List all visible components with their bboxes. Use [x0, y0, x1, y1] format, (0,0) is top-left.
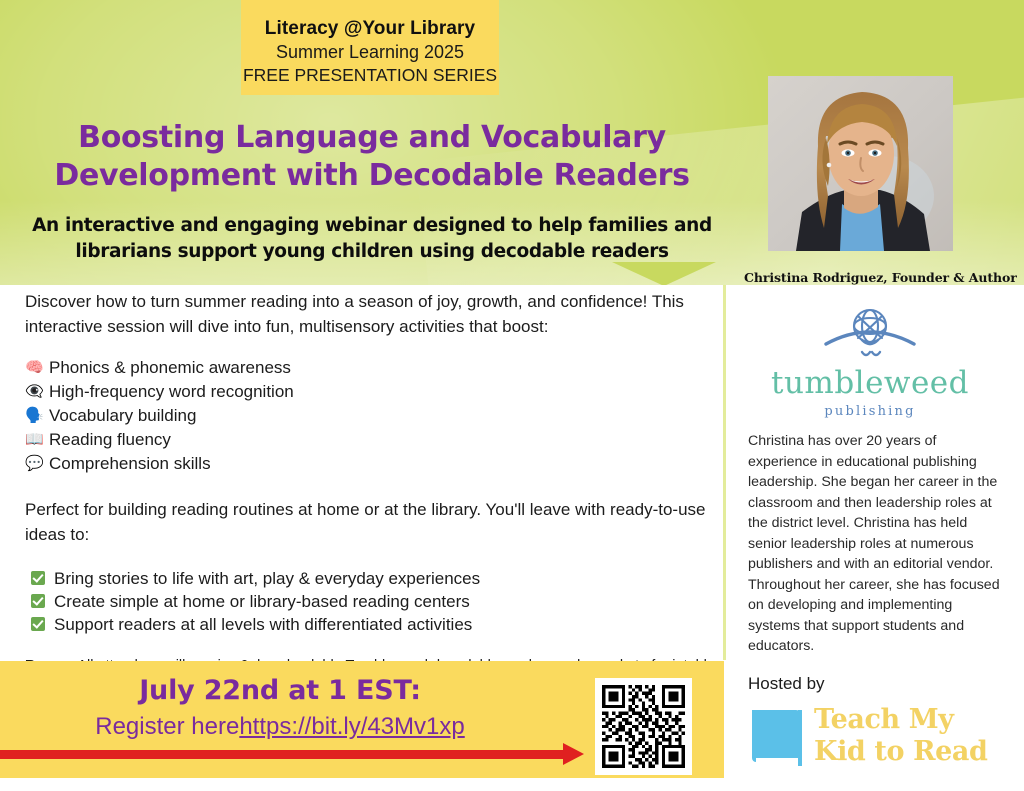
open-book-emoji: 📖: [25, 428, 49, 451]
host-wordmark: Teach My Kid to Read: [814, 704, 987, 768]
avatar: [768, 76, 953, 251]
series-title-box: Literacy @Your Library Summer Learning 2…: [241, 0, 499, 95]
list-item: 🧠 Phonics & phonemic awareness: [25, 356, 715, 379]
list-item: 💬 Comprehension skills: [25, 452, 715, 475]
list-item: 🗣️ Vocabulary building: [25, 404, 715, 427]
presenter-photo-icon: [768, 76, 953, 251]
body-content: Discover how to turn summer reading into…: [25, 289, 715, 698]
tumbleweed-mark-icon: [818, 306, 922, 362]
list-item-label: Phonics & phonemic awareness: [49, 356, 291, 379]
check-mark-icon: [31, 594, 45, 608]
column-divider: [723, 285, 726, 660]
list-item: 👁️‍🗨️ High-frequency word recognition: [25, 380, 715, 403]
page-title: Boosting Language and Vocabulary Develop…: [22, 119, 722, 195]
list-item: Bring stories to life with art, play & e…: [25, 567, 715, 590]
list-item: 📖 Reading fluency: [25, 428, 715, 451]
arrow-head-icon: [563, 743, 584, 765]
presenter-bio: Christina has over 20 years of experienc…: [748, 431, 1008, 657]
brain-emoji: 🧠: [25, 356, 49, 379]
check-mark-icon: [31, 617, 45, 631]
page-subtitle: An interactive and engaging webinar desi…: [22, 213, 722, 265]
list-item-label: Comprehension skills: [49, 452, 211, 475]
open-book-icon: [748, 706, 808, 770]
list-item-label: High-frequency word recognition: [49, 380, 294, 403]
teach-my-kid-to-read-logo: Teach My Kid to Read: [748, 704, 998, 778]
eye-in-speech-bubble-emoji: 👁️‍🗨️: [25, 380, 49, 403]
hosted-by-label: Hosted by: [748, 674, 825, 694]
secondary-paragraph: Perfect for building reading routines at…: [25, 497, 715, 547]
arrow-shaft: [0, 750, 568, 759]
list-item-label: Bring stories to life with art, play & e…: [54, 567, 480, 590]
header-notch: [612, 262, 716, 285]
list-item-label: Reading fluency: [49, 428, 171, 451]
tumbleweed-subtitle: publishing: [770, 404, 970, 419]
qr-code[interactable]: [595, 678, 692, 775]
register-link[interactable]: https://bit.ly/43Mv1xp: [239, 713, 464, 740]
series-line-2: Summer Learning 2025: [241, 40, 499, 64]
event-date: July 22nd at 1 EST:: [0, 675, 560, 706]
takeaway-list: Bring stories to life with art, play & e…: [25, 567, 715, 636]
host-line-1: Teach My: [814, 704, 987, 736]
list-item-label: Vocabulary building: [49, 404, 196, 427]
speaking-head-emoji: 🗣️: [25, 404, 49, 427]
list-item: Create simple at home or library-based r…: [25, 590, 715, 613]
lead-paragraph: Discover how to turn summer reading into…: [25, 289, 715, 339]
series-line-1: Literacy @Your Library: [241, 18, 499, 40]
register-line: Register herehttps://bit.ly/43Mv1xp: [0, 713, 560, 741]
presenter-name: Christina Rodriguez, Founder & Author: [744, 270, 1024, 285]
series-line-3: FREE PRESENTATION SERIES: [241, 64, 499, 87]
list-item: Support readers at all levels with diffe…: [25, 613, 715, 636]
tumbleweed-wordmark: tumbleweed: [770, 365, 970, 401]
check-mark-icon: [31, 571, 45, 585]
host-line-2: Kid to Read: [814, 736, 987, 768]
qr-code-icon: [602, 685, 685, 768]
tumbleweed-logo: tumbleweed publishing: [770, 306, 970, 419]
book-icon: [748, 706, 808, 770]
list-item-label: Support readers at all levels with diffe…: [54, 613, 472, 636]
list-item-label: Create simple at home or library-based r…: [54, 590, 470, 613]
flyer-poster: Literacy @Your Library Summer Learning 2…: [0, 0, 1024, 791]
register-label: Register here: [95, 713, 239, 740]
speech-balloon-emoji: 💬: [25, 452, 49, 475]
topic-list: 🧠 Phonics & phonemic awareness 👁️‍🗨️ Hig…: [25, 356, 715, 475]
